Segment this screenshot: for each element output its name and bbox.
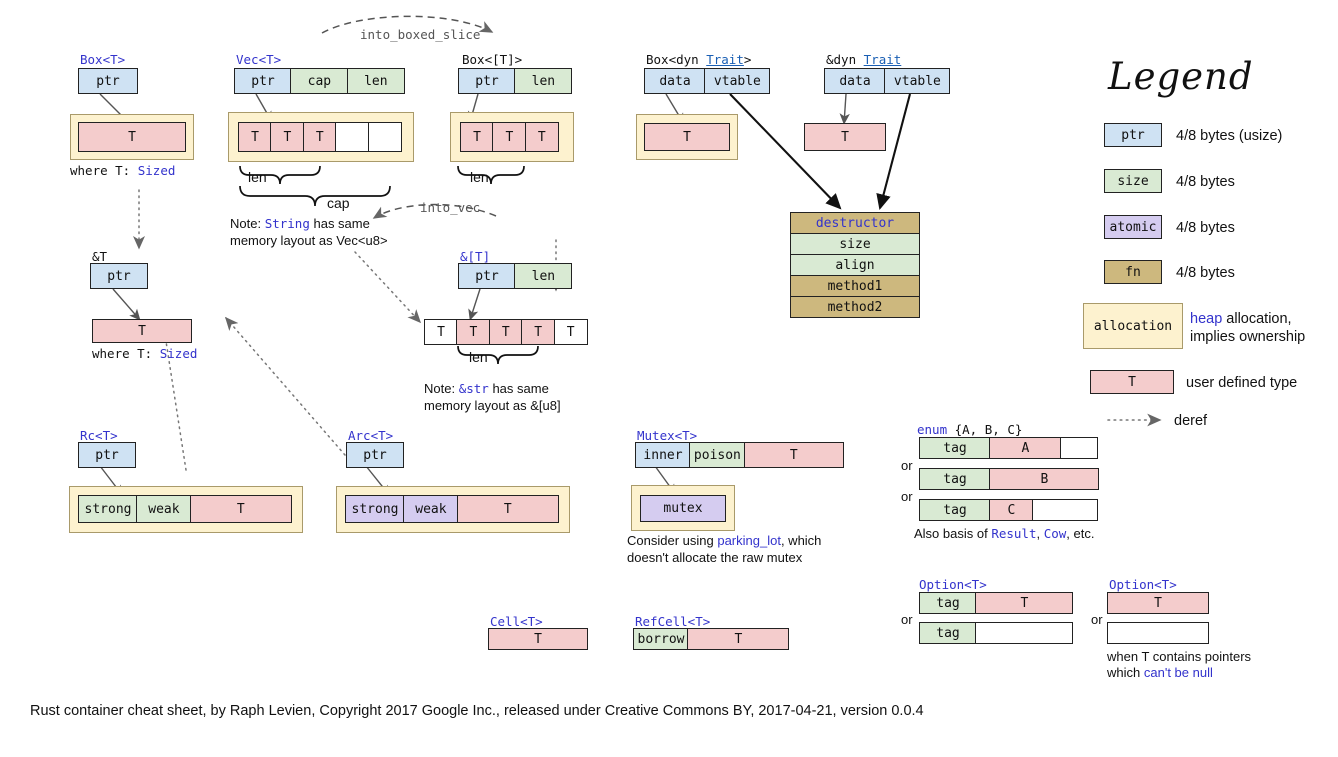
rc-t-cell-value: T [190,495,292,523]
arrow-refdyn-data [844,94,846,124]
ref-dyn-trait-title: &dyn Trait [826,52,901,67]
ref-slice-brace-len-label: len [469,349,488,365]
box-t-title: Box<T> [80,52,125,67]
legend-swatch-size: size [1104,169,1162,193]
arc-t-title: Arc<T> [348,428,393,443]
option-niche-or-label: or [1091,612,1103,628]
vtable-row-destructor: destructor [790,212,920,234]
refcell-t-cell-borrow: borrow [633,628,689,650]
ref-slice-buffer: T T T T T [424,319,588,345]
enum-v1-payload: B [989,468,1099,490]
enum-footnote-pre: Also basis of [914,526,988,541]
enum-v2-padding [1032,499,1098,521]
legend-swatch-user-type: T [1090,370,1174,394]
box-t-cell-ptr: ptr [78,68,138,94]
option-niche-title: Option<T> [1109,577,1177,592]
arrow-reft-ptr [113,289,140,320]
legend-swatch-allocation: allocation [1083,303,1183,349]
arrow-refslice-ptr [470,289,480,320]
ref-slice-note-pre: Note: [424,381,455,396]
ref-slice-cell-ptr: ptr [458,263,516,289]
vec-t-slot-3 [335,122,369,152]
brace-vec-cap [240,186,390,206]
vec-t-brace-len-label: len [248,169,267,185]
vec-t-cell-len: len [347,68,405,94]
vec-t-slot-1: T [270,122,304,152]
enum-footnote-post: , etc. [1066,526,1094,541]
enum-variant-row-0: tag A [919,437,1098,459]
vec-t-cell-ptr: ptr [234,68,292,94]
box-slice-buffer: T T T [460,122,559,152]
vec-t-slot-0: T [238,122,272,152]
vtable-row-method2: method2 [790,296,920,318]
rc-t-header: ptr [78,442,136,468]
box-dyn-trait-title: Box<dyn Trait> [646,52,751,67]
enum-v2-payload: C [989,499,1033,521]
vec-t-slot-2: T [303,122,337,152]
legend-swatch-ptr: ptr [1104,123,1162,147]
mutex-t-note-line1: Consider using parking_lot, which [627,533,821,549]
ref-slice-slot-2: T [489,319,523,345]
option-niche-row-1 [1107,622,1209,644]
ref-t-title: &T [92,249,107,264]
arc-t-cell-weak: weak [403,495,458,523]
box-slice-cell-len: len [514,68,572,94]
ref-t-note-link: Sized [160,346,198,361]
enum-variant-row-2: tag C [919,499,1098,521]
vec-t-note-post: has same [313,216,369,231]
arc-t-cell-strong: strong [345,495,405,523]
vec-t-title: Vec<T> [236,52,281,67]
ref-slice-header: ptr len [458,263,572,289]
legend-desc-fn: 4/8 bytes [1176,264,1235,282]
ref-slice-slot-3: T [521,319,555,345]
ref-dyn-trait-header: data vtable [824,68,950,94]
option-tagged-or-label: or [901,612,913,628]
box-t-header: ptr [78,68,138,94]
arrow-boxdyn-vtable [730,94,840,208]
box-dyn-title-post: > [744,52,752,67]
option-tagged-v1-empty [975,622,1073,644]
deref-rc-to-reft [163,322,186,470]
box-slice-header: ptr len [458,68,572,94]
option-tagged-title: Option<T> [919,577,987,592]
option-tagged-row-1: tag [919,622,1073,644]
enum-footnote-link-result: Result [991,526,1036,541]
ref-slice-slot-4: T [554,319,588,345]
enum-title: enum {A, B, C} [917,422,1022,437]
rc-t-fields: strong weak T [78,495,292,523]
ref-slice-slot-0: T [424,319,458,345]
enum-v0-padding [1060,437,1098,459]
option-tagged-v1-tag: tag [919,622,977,644]
vec-t-header: ptr cap len [234,68,405,94]
mutex-t-cell-inner: inner [635,442,691,468]
rc-t-cell-weak: weak [136,495,191,523]
mutex-note-link: parking_lot [717,533,781,548]
box-dyn-cell-data: data [644,68,706,94]
brace-boxslice-len [458,166,524,184]
enum-v1-tag: tag [919,468,991,490]
arrow-refdyn-vtable [880,94,910,208]
ref-slice-cell-len: len [514,263,572,289]
rc-t-cell-ptr: ptr [78,442,136,468]
box-slice-slot-1: T [492,122,526,152]
vec-t-slot-4 [368,122,402,152]
edge-label-into-boxed-slice: into_boxed_slice [360,27,480,42]
option-tagged-v0-tag: tag [919,592,977,614]
mutex-t-raw-mutex: mutex [640,495,726,522]
vec-t-buffer: T T T [238,122,402,152]
ref-dyn-value: T [804,123,886,151]
arc-t-cell-value: T [457,495,559,523]
box-t-note-link: Sized [138,163,176,178]
legend-swatch-fn: fn [1104,260,1162,284]
option-niche-v0-payload: T [1107,592,1209,614]
box-dyn-title-pre: Box<dyn [646,52,706,67]
vec-t-note-link: String [265,216,310,231]
trait-link[interactable]: Trait [706,52,744,67]
legend-title: Legend [1108,55,1254,98]
ref-slice-note-line2: memory layout as &[u8] [424,398,561,414]
arc-t-cell-ptr: ptr [346,442,404,468]
enum-variant-row-1: tag B [919,468,1099,490]
enum-or-label-2: or [901,489,913,505]
rc-t-cell-strong: strong [78,495,138,523]
box-slice-title: Box<[T]> [462,52,522,67]
option-tagged-row-0: tag T [919,592,1073,614]
legend-desc-ptr: 4/8 bytes (usize) [1176,127,1282,145]
option-tagged-v0-payload: T [975,592,1073,614]
enum-variants-list: {A, B, C} [947,422,1022,437]
cheat-sheet-canvas: Box<T> ptr T where T: Sized Vec<T> ptr c… [0,0,1338,757]
refcell-t-cell-value: T [687,628,789,650]
vtable-row-method1: method1 [790,275,920,297]
box-slice-slot-0: T [460,122,494,152]
box-slice-cell-ptr: ptr [458,68,516,94]
mutex-t-note-line2: doesn't allocate the raw mutex [627,550,802,566]
ref-t-header: ptr [90,263,148,289]
legend-heap-link: heap [1190,311,1222,327]
enum-v0-tag: tag [919,437,991,459]
legend-desc-allocation-line1: heap allocation, [1190,310,1292,328]
vtable-row-align: align [790,254,920,276]
box-t-note-plain: where T: [70,163,130,178]
ref-slice-note-link: &str [459,381,489,396]
legend-swatch-atomic: atomic [1104,215,1162,239]
box-dyn-trait-header: data vtable [644,68,770,94]
option-niche-note-line2: which can't be null [1107,665,1213,681]
legend-desc-user-type: user defined type [1186,374,1297,392]
cell-t-title: Cell<T> [490,614,543,629]
legend-allocation-text: allocation, [1222,311,1291,327]
ref-dyn-title-pre: &dyn [826,52,864,67]
ref-slice-slot-1: T [456,319,490,345]
vec-t-cell-cap: cap [290,68,348,94]
ref-t-target: T [92,319,192,343]
mutex-t-header: inner poison T [635,442,844,468]
ref-dyn-cell-data: data [824,68,886,94]
enum-or-label-1: or [901,458,913,474]
box-slice-brace-len-label: len [470,169,489,185]
enum-v0-payload: A [989,437,1061,459]
box-t-note: where T: Sized [70,163,175,178]
box-slice-slot-2: T [525,122,559,152]
footer-credit: Rust container cheat sheet, by Raph Levi… [30,703,924,719]
box-dyn-cell-vtable: vtable [704,68,770,94]
arc-t-header: ptr [346,442,404,468]
vec-t-brace-cap-label: cap [327,195,350,211]
ref-slice-note-line1: Note: &str has same [424,381,549,397]
ref-t-note-plain: where T: [92,346,152,361]
vec-t-note-line1: Note: String has same [230,216,370,232]
deref-vec-to-refslice [355,252,420,322]
refcell-t-title: RefCell<T> [635,614,710,629]
enum-keyword: enum [917,422,947,437]
box-dyn-value: T [644,123,730,151]
enum-footnote-sep: , [1036,526,1043,541]
trait-link-2[interactable]: Trait [864,52,902,67]
enum-v2-tag: tag [919,499,991,521]
cell-t-value: T [488,628,588,650]
enum-footnote: Also basis of Result, Cow, etc. [914,526,1094,542]
option-niche-note-pre: which [1107,665,1140,680]
arc-t-fields: strong weak T [345,495,559,523]
ref-t-cell-ptr: ptr [90,263,148,289]
vec-t-note-line2: memory layout as Vec<u8> [230,233,388,249]
option-niche-v1-empty [1107,622,1209,644]
edge-label-into-vec: into_vec [420,200,480,215]
deref-arc-to-reft [226,318,345,455]
legend-desc-size: 4/8 bytes [1176,173,1235,191]
ref-t-note: where T: Sized [92,346,197,361]
enum-footnote-link-cow: Cow [1044,526,1067,541]
ref-slice-title: &[T] [460,249,490,264]
mutex-note-pre: Consider using [627,533,714,548]
ref-slice-note-post: has same [492,381,548,396]
vec-t-note-pre: Note: [230,216,261,231]
mutex-t-title: Mutex<T> [637,428,697,443]
refcell-t-row: borrow T [633,628,789,650]
mutex-t-cell-poison: poison [689,442,745,468]
vtable-row-size: size [790,233,920,255]
option-niche-row-0: T [1107,592,1209,614]
mutex-note-post: , which [781,533,821,548]
legend-desc-allocation-line2: implies ownership [1190,328,1305,346]
box-t-value: T [78,122,186,152]
mutex-t-cell-value: T [744,442,844,468]
vtable-destructor-label: destructor [816,216,894,231]
rc-t-title: Rc<T> [80,428,118,443]
legend-desc-atomic: 4/8 bytes [1176,219,1235,237]
legend-desc-deref: deref [1174,412,1207,430]
option-niche-note-link: can't be null [1144,665,1213,680]
ref-dyn-cell-vtable: vtable [884,68,950,94]
option-niche-note-line1: when T contains pointers [1107,649,1251,665]
